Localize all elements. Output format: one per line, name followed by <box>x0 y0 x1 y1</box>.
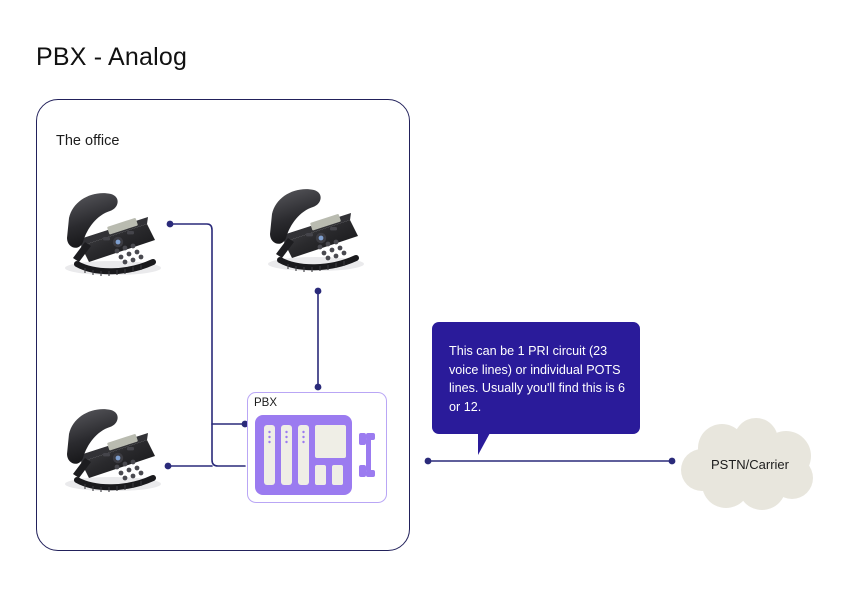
pbx-chassis-icon <box>253 413 383 497</box>
callout-text: This can be 1 PRI circuit (23 voice line… <box>449 342 629 416</box>
desk-phone-top-right <box>258 172 368 272</box>
cloud-label: PSTN/Carrier <box>676 457 824 472</box>
callout-tail <box>478 433 490 455</box>
desk-phone-bottom-left <box>55 392 165 492</box>
office-label: The office <box>56 133 119 149</box>
pbx-label: PBX <box>254 397 277 409</box>
desk-phone-top-left <box>55 176 165 276</box>
page-title: PBX - Analog <box>36 43 187 72</box>
